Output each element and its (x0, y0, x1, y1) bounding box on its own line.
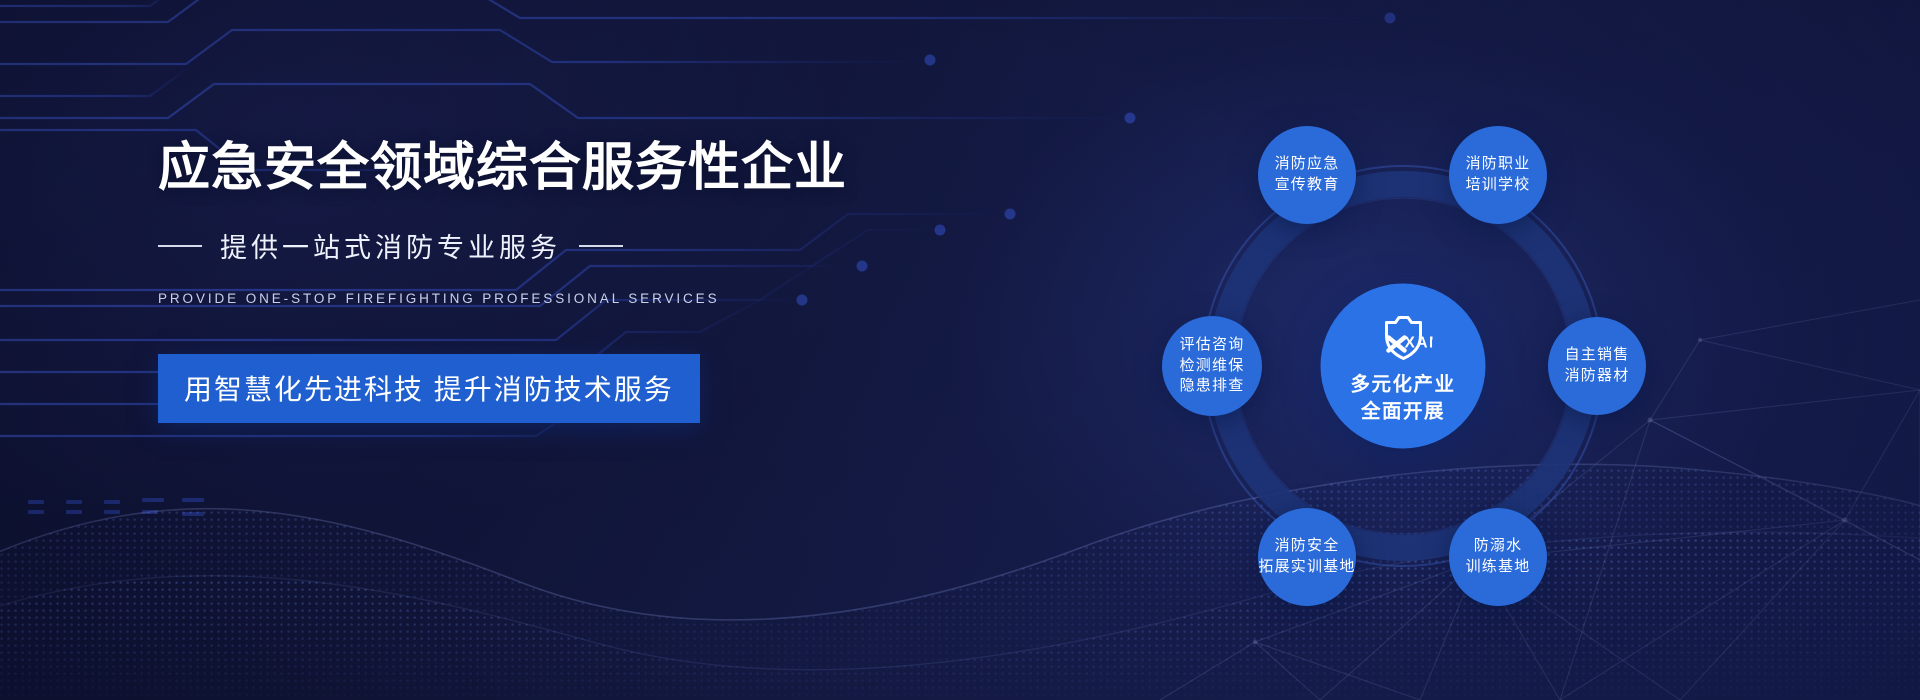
shield-x-logo-icon: XAN (1374, 307, 1432, 365)
node-line-1: 消防安全 (1275, 536, 1340, 557)
subtitle-row: 提供一站式消防专业服务 (158, 226, 858, 265)
page-title: 应急安全领域综合服务性企业 (158, 138, 858, 198)
hero-text-block: 应急安全领域综合服务性企业 提供一站式消防专业服务 PROVIDE ONE-ST… (158, 138, 858, 423)
node-line-1: 消防应急 (1275, 154, 1340, 175)
diagram-node-promo[interactable]: 消防应急 宣传教育 (1258, 126, 1356, 224)
center-line-2: 全面开展 (1361, 398, 1445, 425)
diagram-node-assessment[interactable]: 评估咨询 检测维保 隐患排查 (1162, 316, 1262, 416)
diagram-node-water-safety[interactable]: 防溺水 训练基地 (1449, 508, 1547, 606)
node-line-1: 自主销售 (1565, 345, 1630, 366)
node-line-2: 宣传教育 (1275, 175, 1340, 196)
cta-button[interactable]: 用智慧化先进科技 提升消防技术服务 (158, 354, 700, 423)
services-circle-diagram: 消防应急 宣传教育 消防职业 培训学校 评估咨询 检测维保 隐患排查 自主销售 … (1085, 75, 1625, 605)
node-line-2: 培训学校 (1466, 175, 1531, 196)
diagram-node-sales[interactable]: 自主销售 消防器材 (1548, 317, 1646, 415)
logo-text: XAN (1404, 334, 1432, 351)
hero-english-subtitle: PROVIDE ONE-STOP FIREFIGHTING PROFESSION… (158, 291, 858, 306)
rule-left-icon (158, 245, 202, 247)
diagram-node-school[interactable]: 消防职业 培训学校 (1449, 126, 1547, 224)
node-line-1: 防溺水 (1474, 536, 1523, 557)
hero-banner: 应急安全领域综合服务性企业 提供一站式消防专业服务 PROVIDE ONE-ST… (0, 0, 1920, 700)
diagram-center-node[interactable]: XAN 多元化产业 全面开展 (1321, 284, 1486, 449)
node-line-2: 消防器材 (1565, 366, 1630, 387)
diagram-node-training-base[interactable]: 消防安全 拓展实训基地 (1258, 508, 1356, 606)
node-line-1: 消防职业 (1466, 154, 1531, 175)
node-line-3: 隐患排查 (1180, 376, 1245, 397)
node-line-1: 评估咨询 (1180, 335, 1245, 356)
node-line-2: 拓展实训基地 (1258, 557, 1355, 578)
node-line-2: 检测维保 (1180, 356, 1245, 377)
center-line-1: 多元化产业 (1350, 371, 1455, 398)
hero-subtitle: 提供一站式消防专业服务 (220, 226, 561, 265)
node-line-2: 训练基地 (1466, 557, 1531, 578)
rule-right-icon (579, 245, 623, 247)
